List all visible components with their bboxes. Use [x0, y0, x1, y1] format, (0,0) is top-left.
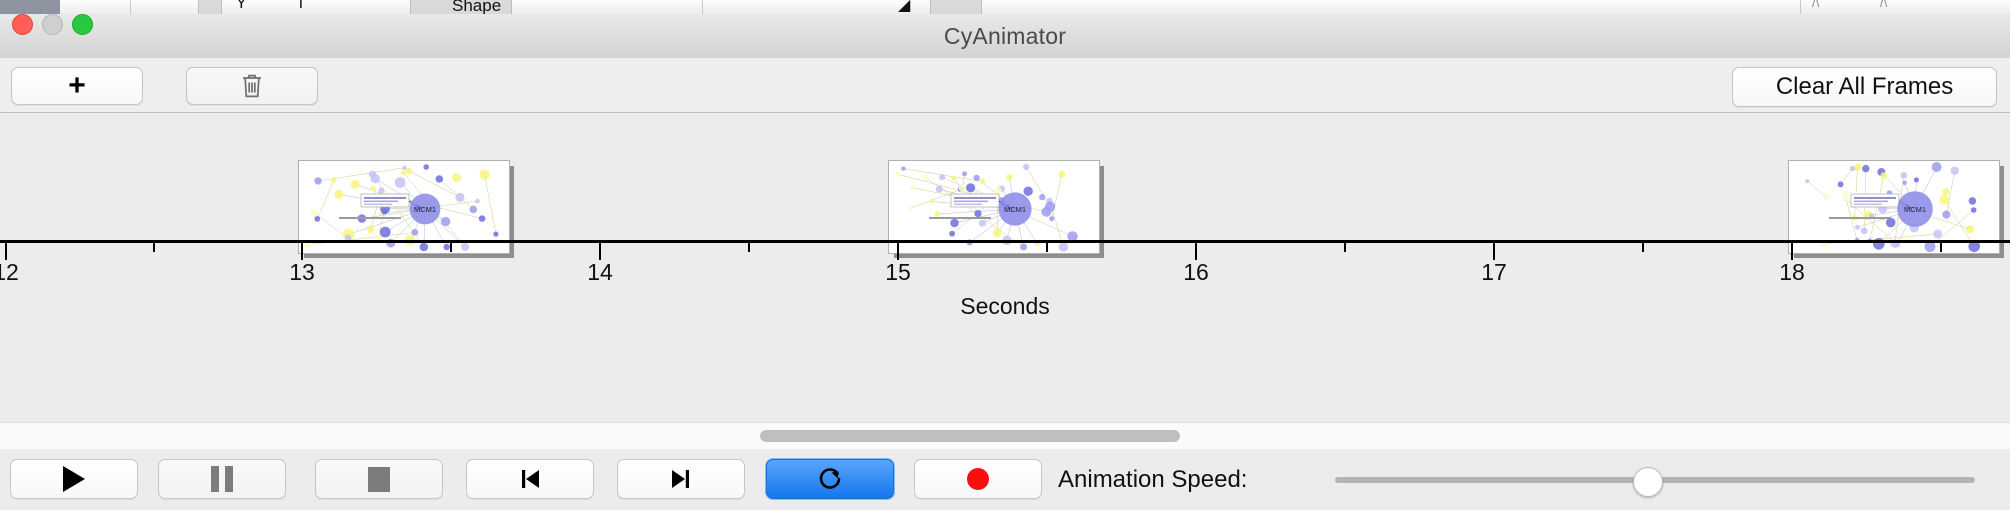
timeline-scrollbar[interactable]: [0, 422, 2010, 450]
background-cell: [1950, 0, 2010, 14]
background-field: [198, 0, 222, 14]
loop-button[interactable]: [766, 459, 894, 499]
ruler-tick-label: 18: [1779, 259, 1805, 286]
ruler-tick-label: 14: [587, 259, 613, 286]
play-button[interactable]: [10, 459, 138, 499]
close-icon[interactable]: [12, 14, 33, 35]
playback-toolbar: Animation Speed:: [0, 449, 2010, 510]
cyanimator-window: Y T Shape ◢ /\ /\ CyAnimator +: [0, 0, 2010, 510]
background-window-label: Shape: [452, 0, 501, 15]
ruler-tick-major: [1493, 243, 1495, 260]
clear-all-frames-label: Clear All Frames: [1776, 73, 1953, 101]
play-icon: [63, 466, 85, 492]
time-ruler[interactable]: 12131415161718: [0, 240, 2010, 280]
ruler-tick-label: 13: [289, 259, 315, 286]
plus-icon: +: [68, 71, 86, 101]
title-bar[interactable]: CyAnimator: [0, 14, 2010, 59]
ruler-tick-minor: [1344, 243, 1346, 252]
background-glyph: Y: [236, 0, 247, 13]
skip-to-start-icon: [517, 466, 543, 492]
ruler-tick-minor: [1940, 243, 1942, 252]
skip-end-button[interactable]: [617, 459, 745, 499]
ruler-tick-major: [599, 243, 601, 260]
ruler-tick-major: [897, 243, 899, 260]
background-glyph: ◢: [898, 0, 910, 15]
ruler-tick-minor: [450, 243, 452, 252]
animation-speed-label: Animation Speed:: [1058, 449, 1247, 510]
pause-icon: [211, 466, 233, 492]
background-cell: [320, 0, 411, 14]
delete-frame-button[interactable]: [186, 67, 318, 105]
background-glyph: /\: [1812, 0, 1819, 10]
background-glyph: T: [296, 0, 306, 13]
svg-text:MCM1: MCM1: [1904, 205, 1926, 214]
background-window-sidebar: [0, 0, 60, 14]
ruler-tick-minor: [153, 243, 155, 252]
ruler-tick-major: [1195, 243, 1197, 260]
background-cell: [700, 0, 703, 14]
clear-all-frames-button[interactable]: Clear All Frames: [1732, 67, 1997, 107]
background-field: [930, 0, 982, 14]
ruler-tick-major: [301, 243, 303, 260]
ruler-tick-label: 15: [885, 259, 911, 286]
ruler-tick-label: 16: [1183, 259, 1209, 286]
stop-icon: [368, 467, 390, 492]
axis-title: Seconds: [0, 293, 2010, 320]
ruler-tick-minor: [1642, 243, 1644, 252]
page-title: CyAnimator: [0, 14, 2010, 58]
stop-button: [315, 459, 443, 499]
background-window: Y T Shape ◢ /\ /\: [0, 0, 2010, 15]
add-frame-button[interactable]: +: [11, 67, 143, 105]
slider-thumb[interactable]: [1633, 467, 1663, 497]
background-cell: [1000, 0, 1801, 14]
ruler-tick-minor: [1046, 243, 1048, 252]
svg-text:MCM1: MCM1: [1004, 205, 1026, 214]
animation-speed-slider[interactable]: [1335, 449, 2005, 510]
timeline-panel[interactable]: MCM1 MCM1 MCM1 12131415161718 Seconds: [0, 113, 2010, 422]
ruler-tick-major: [1791, 243, 1793, 260]
background-cell: [130, 0, 199, 14]
ruler-tick-label: 12: [0, 259, 19, 286]
skip-start-button[interactable]: [466, 459, 594, 499]
ruler-tick-major: [5, 243, 7, 260]
svg-text:MCM1: MCM1: [414, 205, 436, 214]
traffic-lights: [12, 14, 93, 35]
background-glyph: /\: [1880, 0, 1887, 10]
loop-icon: [815, 464, 845, 494]
background-cell: [60, 0, 131, 14]
record-icon: [967, 468, 989, 490]
ruler-tick-label: 17: [1481, 259, 1507, 286]
ruler-tick-minor: [748, 243, 750, 252]
trash-icon: [241, 73, 263, 99]
skip-to-end-icon: [668, 466, 694, 492]
minimize-icon[interactable]: [42, 14, 63, 35]
record-button[interactable]: [914, 459, 1042, 499]
maximize-icon[interactable]: [72, 14, 93, 35]
scrollbar-thumb[interactable]: [760, 430, 1180, 442]
toolbar: + Clear All Frames: [0, 58, 2010, 113]
pause-button: [158, 459, 286, 499]
